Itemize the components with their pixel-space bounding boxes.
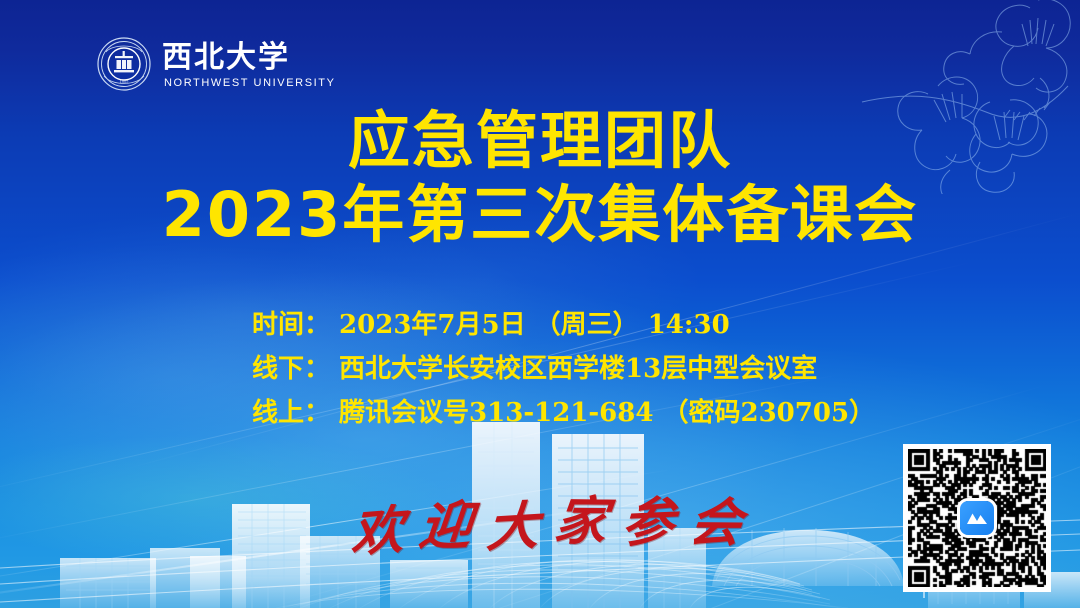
welcome-char-4: 家 bbox=[551, 478, 612, 553]
page-title: 应急管理团队 2023年第三次集体备课会 bbox=[0, 108, 1080, 247]
logo-english-name: NORTHWEST UNIVERSITY bbox=[162, 77, 336, 90]
poster-canvas: 1902 西北大学 NORTHWEST UNIVERSITY 应急管理团队 20… bbox=[0, 0, 1080, 608]
meeting-details: 时间： 2023年7月5日 （周三） 14:30 线下： 西北大学长安校区西学楼… bbox=[252, 303, 875, 435]
title-line-1: 应急管理团队 bbox=[0, 108, 1080, 174]
svg-text:1902: 1902 bbox=[120, 79, 130, 84]
northwest-university-seal-icon: 1902 bbox=[96, 36, 152, 92]
mountain-glyph-icon bbox=[966, 511, 988, 525]
detail-time: 时间： 2023年7月5日 （周三） 14:30 bbox=[252, 303, 875, 347]
svg-text:西北大学: 西北大学 bbox=[162, 40, 290, 75]
logo-wordmark: 西北大学 NORTHWEST UNIVERSITY bbox=[162, 39, 336, 90]
welcome-char-3: 大 bbox=[485, 483, 541, 561]
welcome-text: 欢 迎 大 家 参 会 bbox=[349, 479, 746, 561]
welcome-char-1: 欢 bbox=[350, 487, 404, 566]
welcome-char-5: 参 bbox=[620, 479, 677, 556]
tencent-meeting-logo-icon bbox=[960, 501, 994, 535]
university-logo: 1902 西北大学 NORTHWEST UNIVERSITY bbox=[96, 36, 336, 92]
welcome-banner: 欢 迎 大 家 参 会 bbox=[352, 484, 742, 556]
detail-offline-venue: 线下： 西北大学长安校区西学楼13层中型会议室 bbox=[252, 347, 875, 391]
tencent-meeting-qr-code[interactable] bbox=[903, 444, 1051, 592]
detail-online-meeting: 线上： 腾讯会议号313-121-684 （密码230705） bbox=[252, 391, 875, 435]
welcome-char-6: 会 bbox=[686, 480, 747, 555]
title-line-2: 2023年第三次集体备课会 bbox=[0, 182, 1080, 248]
logo-chinese-name-icon: 西北大学 bbox=[162, 39, 312, 75]
welcome-char-2: 迎 bbox=[416, 483, 475, 558]
